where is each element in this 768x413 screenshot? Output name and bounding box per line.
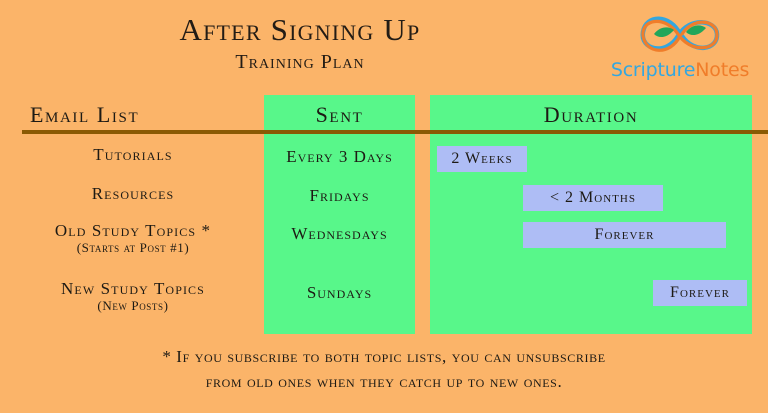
duration-bar: Forever bbox=[523, 222, 726, 248]
table-row-sent: Sundays bbox=[264, 283, 415, 303]
table-row-label: Tutorials bbox=[8, 146, 258, 164]
row-label-main: Resources bbox=[8, 185, 258, 203]
table-row-label: Resources bbox=[8, 185, 258, 203]
row-label-note: (Starts at Post #1) bbox=[8, 241, 258, 255]
table-row-sent: Every 3 Days bbox=[264, 147, 415, 167]
column-header-sent: Sent bbox=[264, 104, 415, 126]
duration-bar: < 2 Months bbox=[523, 185, 663, 211]
duration-bar: 2 Weeks bbox=[437, 146, 527, 172]
infinity-leaf-icon bbox=[632, 6, 728, 62]
row-label-main: New Study Topics bbox=[8, 280, 258, 298]
row-label-main: Tutorials bbox=[8, 146, 258, 164]
column-header-email-list: Email List bbox=[30, 104, 250, 126]
duration-bar: Forever bbox=[653, 280, 747, 306]
footnote-line-1: * If you subscribe to both topic lists, … bbox=[0, 345, 768, 370]
logo-word-notes: Notes bbox=[695, 59, 749, 81]
table-row-sent: Fridays bbox=[264, 186, 415, 206]
logo-word-scripture: Scripture bbox=[611, 59, 695, 81]
footnote-line-2: from old ones when they catch up to new … bbox=[0, 370, 768, 395]
table-row-sent: Wednesdays bbox=[264, 224, 415, 244]
header-title-block: After Signing Up Training Plan bbox=[0, 14, 600, 74]
training-plan-infographic: After Signing Up Training Plan Scripture… bbox=[0, 0, 768, 413]
footnote: * If you subscribe to both topic lists, … bbox=[0, 345, 768, 394]
logo-wordmark: ScriptureNotes bbox=[604, 59, 756, 81]
page-subtitle: Training Plan bbox=[0, 51, 600, 74]
row-label-note: (New Posts) bbox=[8, 299, 258, 313]
row-label-main: Old Study Topics * bbox=[8, 222, 258, 240]
page-title: After Signing Up bbox=[0, 14, 600, 47]
table-row-label: New Study Topics (New Posts) bbox=[8, 280, 258, 312]
column-header-duration: Duration bbox=[430, 104, 752, 126]
scripturenotes-logo: ScriptureNotes bbox=[604, 6, 756, 88]
header-divider bbox=[22, 130, 768, 134]
table-row-label: Old Study Topics * (Starts at Post #1) bbox=[8, 222, 258, 254]
